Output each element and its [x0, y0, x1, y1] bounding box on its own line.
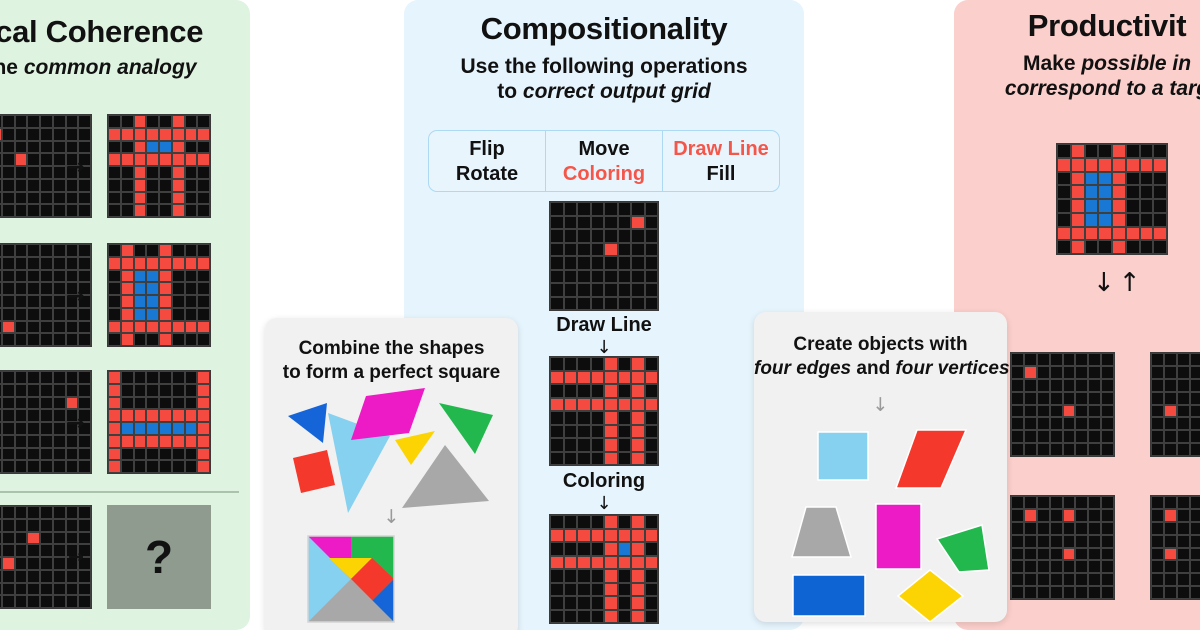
grid-cell [134, 333, 147, 346]
grid-cell [2, 295, 15, 308]
grid-cell [53, 270, 66, 283]
grid-cell [1071, 172, 1085, 186]
grid-cell [1164, 366, 1177, 379]
grid-cell [78, 570, 91, 583]
tangram-blue-piece [372, 579, 394, 622]
grid-cell [604, 243, 618, 257]
grid-cell [1177, 535, 1190, 548]
green-triangle-shape [439, 403, 493, 454]
grid-cell [66, 384, 79, 397]
operations-box: Flip Rotate Move Coloring Draw Line Fill [428, 130, 780, 192]
grid-cell [78, 115, 91, 128]
grid-cell [159, 371, 172, 384]
grid-cell [550, 202, 564, 216]
grid-cell [604, 438, 618, 452]
grid-cell [27, 371, 40, 384]
grid-cell [1071, 144, 1085, 158]
center-subtitle-line-2: to correct output grid [404, 80, 804, 105]
grid-cell [185, 257, 198, 270]
grid-cell [2, 595, 15, 608]
grid-cell [591, 452, 605, 466]
tangram-card-arrow: ↓ [265, 508, 518, 527]
grid-cell [618, 202, 632, 216]
grid-cell [1088, 522, 1101, 535]
grid-cell [1075, 573, 1088, 586]
grid-cell [1085, 172, 1099, 186]
grid-cell [618, 297, 632, 311]
grid-cell [185, 115, 198, 128]
grid-cell [1112, 199, 1126, 213]
grid-cell [1011, 366, 1024, 379]
grid-cell [577, 529, 591, 543]
grid-cell [2, 506, 15, 519]
grid-cell [591, 438, 605, 452]
grid-cell [1088, 417, 1101, 430]
grid-cell [1164, 392, 1177, 405]
grid-cell [40, 544, 53, 557]
grid-cell [631, 270, 645, 284]
grid-cell [577, 216, 591, 230]
grid-cell [2, 204, 15, 217]
grid-cell [78, 270, 91, 283]
grid-cell [604, 596, 618, 610]
tangram-card-title-line-2: to form a perfect square [265, 362, 518, 385]
grid-cell [618, 371, 632, 385]
grid-cell [121, 333, 134, 346]
grid-cell [645, 556, 659, 570]
grid-cell [134, 179, 147, 192]
center-subtitle-plain: to [497, 80, 523, 103]
grid-cell [577, 256, 591, 270]
grid-cell [15, 409, 28, 422]
grid-cell [1085, 144, 1099, 158]
grid-cell [121, 270, 134, 283]
grid-cell [1112, 172, 1126, 186]
grid-cell [550, 583, 564, 597]
grid-cell [78, 384, 91, 397]
grid-cell [172, 308, 185, 321]
grid-cell [53, 384, 66, 397]
grid-cell [1101, 379, 1114, 392]
grid-cell [1177, 417, 1190, 430]
green-quadrilateral-shape [937, 525, 989, 572]
tangram-square-outline [308, 536, 394, 622]
grid-cell [1050, 430, 1063, 443]
grid-cell [1190, 548, 1200, 561]
grid-cell [1112, 185, 1126, 199]
operation-rotate[interactable]: Rotate [456, 162, 518, 186]
grid-cell [197, 179, 210, 192]
grid-cell [1011, 548, 1024, 561]
grid-cell [1164, 379, 1177, 392]
grid-cell [197, 204, 210, 217]
grid-cell [197, 448, 210, 461]
grid-cell [577, 270, 591, 284]
grid-cell [2, 141, 15, 154]
grid-cell [27, 270, 40, 283]
grid-cell [53, 506, 66, 519]
grid-cell [40, 384, 53, 397]
grid-cell [591, 256, 605, 270]
grid-cell [1011, 573, 1024, 586]
grid-cell [550, 438, 564, 452]
center-coloring-grid [549, 514, 659, 624]
grid-cell [121, 435, 134, 448]
grid-cell [66, 460, 79, 473]
grid-cell [40, 308, 53, 321]
grid-cell [1024, 586, 1037, 599]
grid-cell [1151, 379, 1164, 392]
operation-fill[interactable]: Fill [707, 162, 736, 186]
grid-cell [550, 357, 564, 371]
grid-cell [550, 371, 564, 385]
grid-cell [604, 270, 618, 284]
grid-cell [134, 308, 147, 321]
grid-cell [604, 283, 618, 297]
grid-cell [15, 532, 28, 545]
grid-cell [197, 435, 210, 448]
grid-cell [66, 244, 79, 257]
grid-cell [172, 295, 185, 308]
grid-cell [645, 243, 659, 257]
grid-cell [1088, 366, 1101, 379]
operation-flip[interactable]: Flip [469, 137, 505, 161]
operation-coloring[interactable]: Coloring [563, 162, 645, 186]
grid-cell [1153, 172, 1167, 186]
grid-cell [577, 452, 591, 466]
grid-cell [1037, 417, 1050, 430]
grid-cell [159, 166, 172, 179]
grid-cell [185, 409, 198, 422]
grid-cell [27, 397, 40, 410]
grid-cell [78, 506, 91, 519]
grid-cell [134, 153, 147, 166]
grid-cell [1063, 405, 1076, 418]
grid-cell [1075, 586, 1088, 599]
grid-cell [66, 595, 79, 608]
grid-cell [1088, 443, 1101, 456]
grid-cell [591, 371, 605, 385]
grid-cell [1024, 392, 1037, 405]
grid-cell [53, 257, 66, 270]
grid-cell [78, 244, 91, 257]
grid-cell [15, 506, 28, 519]
grid-cell [146, 282, 159, 295]
grid-cell [108, 460, 121, 473]
grid-cell [1088, 430, 1101, 443]
grid-cell [618, 398, 632, 412]
grid-cell [2, 128, 15, 141]
grid-cell [564, 542, 578, 556]
grid-cell [108, 409, 121, 422]
quad-card-arrow: ↓ [754, 396, 1007, 415]
grid-cell [550, 569, 564, 583]
grid-cell [1164, 443, 1177, 456]
grid-cell [78, 179, 91, 192]
grid-cell [550, 243, 564, 257]
grid-cell [645, 569, 659, 583]
blue-rectangle-shape [793, 575, 865, 616]
grid-cell [1063, 573, 1076, 586]
grid-cell [27, 333, 40, 346]
grid-cell [40, 397, 53, 410]
grid-cell [108, 204, 121, 217]
grid-cell [197, 384, 210, 397]
grid-cell [1088, 405, 1101, 418]
grid-cell [631, 596, 645, 610]
grid-cell [1126, 227, 1140, 241]
grid-cell [66, 192, 79, 205]
grid-cell [1140, 227, 1154, 241]
grid-cell [1063, 379, 1076, 392]
grid-cell [78, 448, 91, 461]
grid-cell [2, 448, 15, 461]
grid-cell [1075, 392, 1088, 405]
grid-cell [618, 515, 632, 529]
grid-cell [1050, 522, 1063, 535]
grid-cell [15, 270, 28, 283]
grid-cell [618, 583, 632, 597]
grid-cell [604, 202, 618, 216]
grid-cell [15, 295, 28, 308]
left-arrow-question: → [68, 548, 84, 567]
quad-card-title-line-1: Create objects with [754, 334, 1007, 357]
grid-cell [53, 333, 66, 346]
grid-cell [197, 371, 210, 384]
grid-cell [108, 333, 121, 346]
grid-cell [550, 452, 564, 466]
grid-cell [604, 297, 618, 311]
grid-cell [108, 166, 121, 179]
grid-cell [15, 166, 28, 179]
grid-cell [1101, 405, 1114, 418]
grid-cell [1057, 144, 1071, 158]
grid-cell [618, 384, 632, 398]
grid-cell [1151, 548, 1164, 561]
grid-cell [1063, 548, 1076, 561]
grid-cell [2, 384, 15, 397]
grid-cell [1101, 366, 1114, 379]
grid-cell [108, 115, 121, 128]
grid-cell [1177, 405, 1190, 418]
grid-cell [121, 153, 134, 166]
grid-cell [645, 283, 659, 297]
grid-cell [1101, 430, 1114, 443]
grid-cell [185, 192, 198, 205]
grid-cell [550, 270, 564, 284]
grid-cell [172, 204, 185, 217]
grid-cell [146, 422, 159, 435]
grid-cell [1098, 144, 1112, 158]
grid-cell [159, 115, 172, 128]
grid-cell [1101, 392, 1114, 405]
grid-cell [591, 216, 605, 230]
grid-cell [1101, 573, 1114, 586]
grid-cell [78, 460, 91, 473]
grid-cell [159, 192, 172, 205]
grid-cell [2, 460, 15, 473]
grid-cell [1140, 144, 1154, 158]
grid-cell [40, 570, 53, 583]
grid-cell [146, 166, 159, 179]
grid-cell [134, 460, 147, 473]
grid-cell [197, 295, 210, 308]
left-arrow-2: → [66, 286, 84, 308]
grid-cell [53, 295, 66, 308]
grid-cell [197, 422, 210, 435]
grid-cell [15, 115, 28, 128]
grid-cell [40, 422, 53, 435]
grid-cell [1164, 496, 1177, 509]
grid-cell [1037, 573, 1050, 586]
grid-cell [1190, 443, 1200, 456]
grid-cell [1177, 586, 1190, 599]
grid-cell [1050, 443, 1063, 456]
grid-cell [185, 179, 198, 192]
grid-cell [40, 371, 53, 384]
operation-draw-line[interactable]: Draw Line [673, 137, 769, 161]
center-subtitle-italic: correct output grid [523, 80, 711, 103]
grid-cell [40, 519, 53, 532]
grid-cell [185, 282, 198, 295]
grid-cell [1101, 509, 1114, 522]
grid-cell [1101, 443, 1114, 456]
grid-cell [1011, 496, 1024, 509]
grid-cell [66, 435, 79, 448]
grid-cell [15, 333, 28, 346]
grid-cell [15, 397, 28, 410]
grid-cell [1085, 240, 1099, 254]
grid-cell [618, 243, 632, 257]
grid-cell [591, 229, 605, 243]
grid-cell [1101, 535, 1114, 548]
grid-cell [172, 435, 185, 448]
grid-cell [564, 229, 578, 243]
blue-triangle-shape [288, 403, 327, 443]
grid-cell [146, 321, 159, 334]
grid-cell [146, 448, 159, 461]
grid-cell [604, 384, 618, 398]
grid-cell [645, 357, 659, 371]
grid-cell [1177, 522, 1190, 535]
grid-cell [591, 515, 605, 529]
grid-cell [631, 583, 645, 597]
grid-cell [53, 544, 66, 557]
grid-cell [550, 556, 564, 570]
grid-cell [1085, 213, 1099, 227]
grid-cell [185, 141, 198, 154]
grid-cell [27, 435, 40, 448]
grid-cell [1057, 185, 1071, 199]
grid-cell [1151, 417, 1164, 430]
grid-cell [631, 229, 645, 243]
grid-cell [1037, 522, 1050, 535]
grid-cell [1190, 560, 1200, 573]
grid-cell [40, 333, 53, 346]
grid-cell [591, 583, 605, 597]
grid-cell [577, 411, 591, 425]
grid-cell [40, 244, 53, 257]
grid-cell [1164, 522, 1177, 535]
grid-cell [2, 153, 15, 166]
grid-cell [577, 425, 591, 439]
grid-cell [1151, 496, 1164, 509]
grid-cell [1153, 199, 1167, 213]
grid-cell [1037, 353, 1050, 366]
grid-cell [550, 229, 564, 243]
grid-cell [172, 153, 185, 166]
grid-cell [197, 409, 210, 422]
grid-cell [53, 128, 66, 141]
grid-cell [1164, 353, 1177, 366]
grid-cell [40, 557, 53, 570]
grid-cell [1190, 509, 1200, 522]
grid-cell [1151, 509, 1164, 522]
grid-cell [134, 448, 147, 461]
grid-cell [15, 448, 28, 461]
grid-cell [134, 295, 147, 308]
grid-cell [121, 141, 134, 154]
grid-cell [2, 435, 15, 448]
grid-cell [1050, 366, 1063, 379]
grid-cell [550, 529, 564, 543]
grid-cell [577, 229, 591, 243]
grid-cell [604, 411, 618, 425]
operation-move[interactable]: Move [578, 137, 629, 161]
grid-cell [197, 308, 210, 321]
grid-cell [40, 115, 53, 128]
grid-cell [27, 409, 40, 422]
grid-cell [1164, 560, 1177, 573]
grid-cell [2, 192, 15, 205]
grid-cell [1151, 522, 1164, 535]
grid-cell [1164, 535, 1177, 548]
grid-cell [185, 448, 198, 461]
grid-cell [1190, 379, 1200, 392]
grid-cell [645, 229, 659, 243]
grid-cell [40, 141, 53, 154]
grid-cell [564, 371, 578, 385]
grid-cell [1126, 172, 1140, 186]
grid-cell [172, 270, 185, 283]
grid-cell [185, 384, 198, 397]
grid-cell [550, 596, 564, 610]
grid-cell [15, 244, 28, 257]
grid-cell [1101, 522, 1114, 535]
tangram-square-base [308, 536, 394, 622]
operations-column-2: Move Coloring [545, 131, 662, 191]
grid-cell [27, 448, 40, 461]
grid-cell [121, 321, 134, 334]
grid-cell [1088, 535, 1101, 548]
grid-cell [550, 256, 564, 270]
grid-cell [550, 216, 564, 230]
grid-cell [645, 384, 659, 398]
grid-cell [1011, 430, 1024, 443]
left-subtitle-italic: common analogy [24, 56, 197, 79]
grid-cell [1063, 560, 1076, 573]
grid-cell [121, 295, 134, 308]
grid-cell [577, 610, 591, 624]
grid-cell [1024, 443, 1037, 456]
grid-cell [604, 256, 618, 270]
grid-cell [1063, 509, 1076, 522]
grid-cell [1071, 185, 1085, 199]
grid-cell [134, 257, 147, 270]
grid-cell [40, 595, 53, 608]
grid-cell [1024, 496, 1037, 509]
grid-cell [1024, 522, 1037, 535]
